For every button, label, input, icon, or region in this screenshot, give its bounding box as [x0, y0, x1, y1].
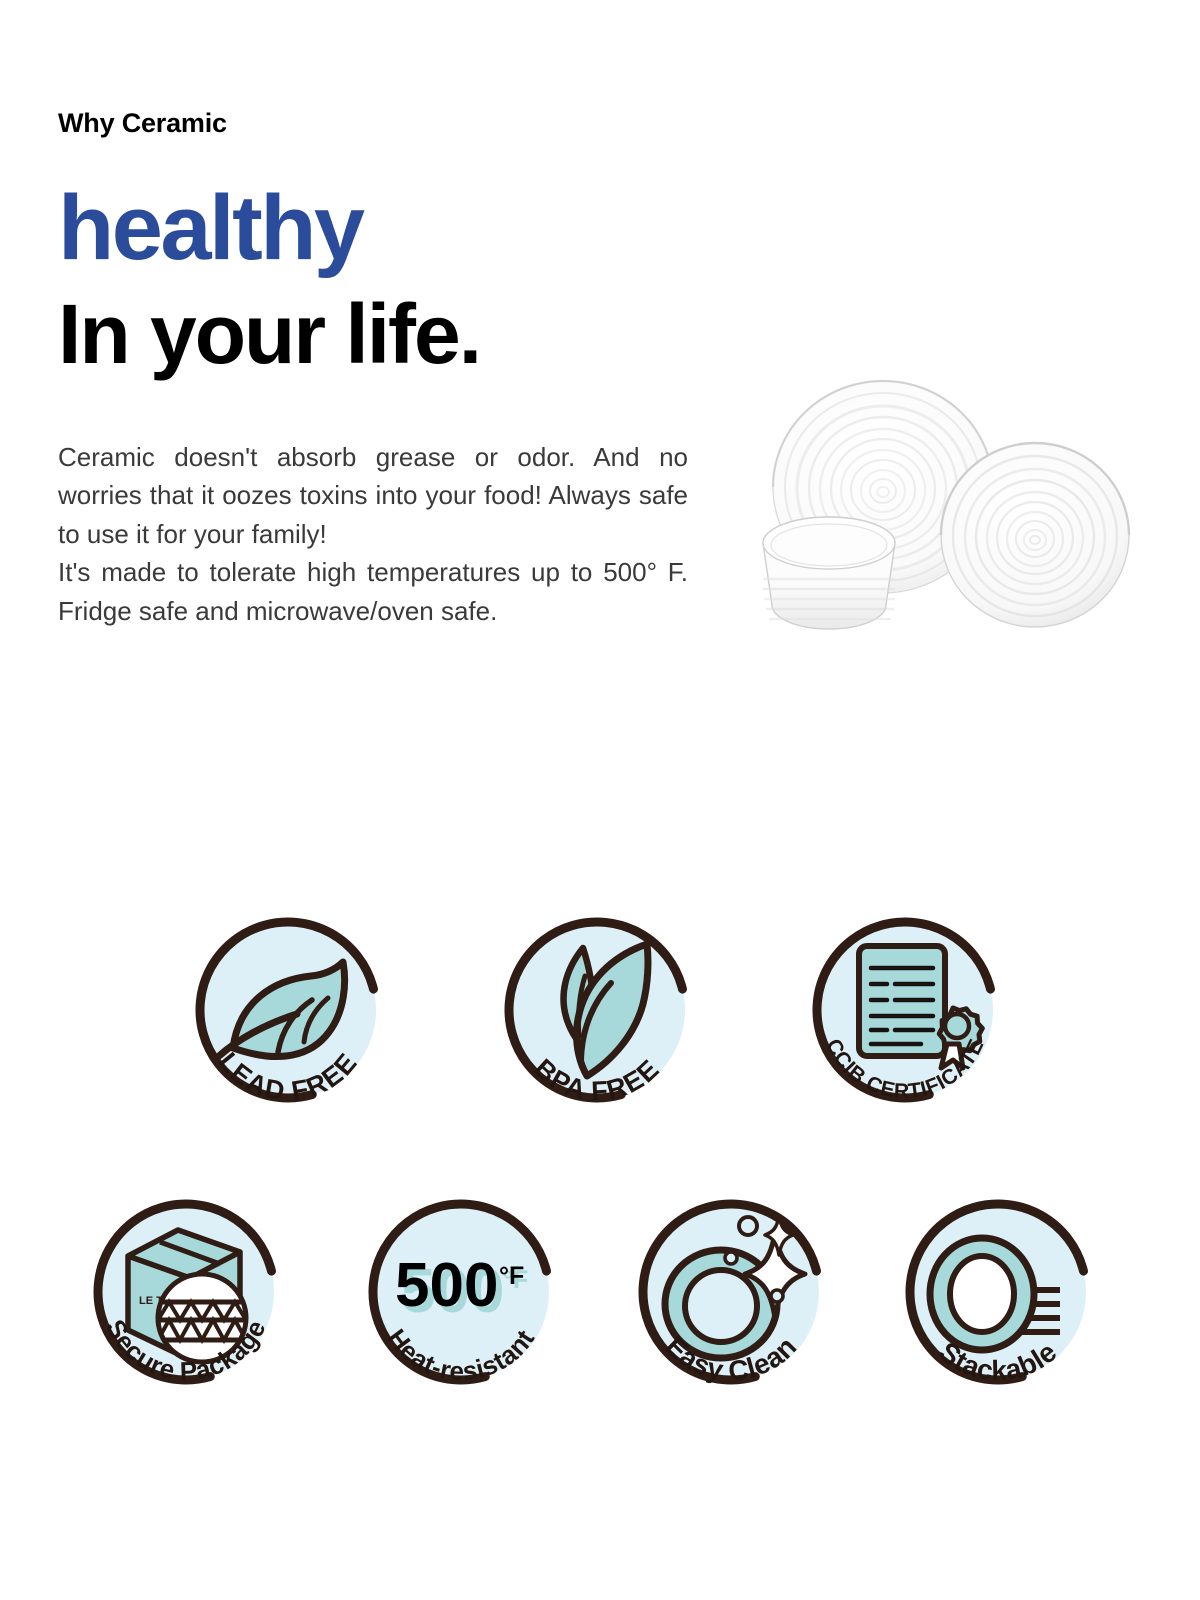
body-paragraph-2: It's made to tolerate high temperatures … [58, 553, 688, 630]
badge-bpa-free[interactable]: BPA FREE [495, 908, 699, 1123]
temperature-value: 500 [395, 1251, 498, 1320]
medium-plate-illustration [941, 443, 1129, 627]
headline-primary: healthy [58, 182, 363, 274]
eyebrow-label: Why Ceramic [58, 108, 227, 139]
badge-ccib-certificate[interactable]: CCIB CERTIFICATE [803, 908, 1007, 1123]
badge-heat-resistant[interactable]: 500 500 °F °F Heat-resistant [359, 1190, 563, 1405]
bowl-illustration [759, 517, 901, 629]
badge-secure-package[interactable]: LE TAUO Secure Package [84, 1190, 288, 1405]
badge-easy-clean[interactable]: Easy Clean [629, 1190, 833, 1405]
badge-stackable[interactable]: Stackable [896, 1190, 1100, 1405]
badge-lead-free[interactable]: LEAD FREE [186, 908, 390, 1123]
hero-section: Why Ceramic healthy In your life. Cerami… [0, 0, 1200, 880]
headline-secondary: In your life. [58, 292, 480, 376]
badge-grid: LEAD FREE BPA FREE [0, 880, 1200, 1480]
body-copy: Ceramic doesn't absorb grease or odor. A… [58, 438, 688, 630]
temperature-unit: °F [499, 1262, 524, 1290]
body-paragraph-1: Ceramic doesn't absorb grease or odor. A… [58, 438, 688, 553]
product-photo [735, 375, 1165, 675]
